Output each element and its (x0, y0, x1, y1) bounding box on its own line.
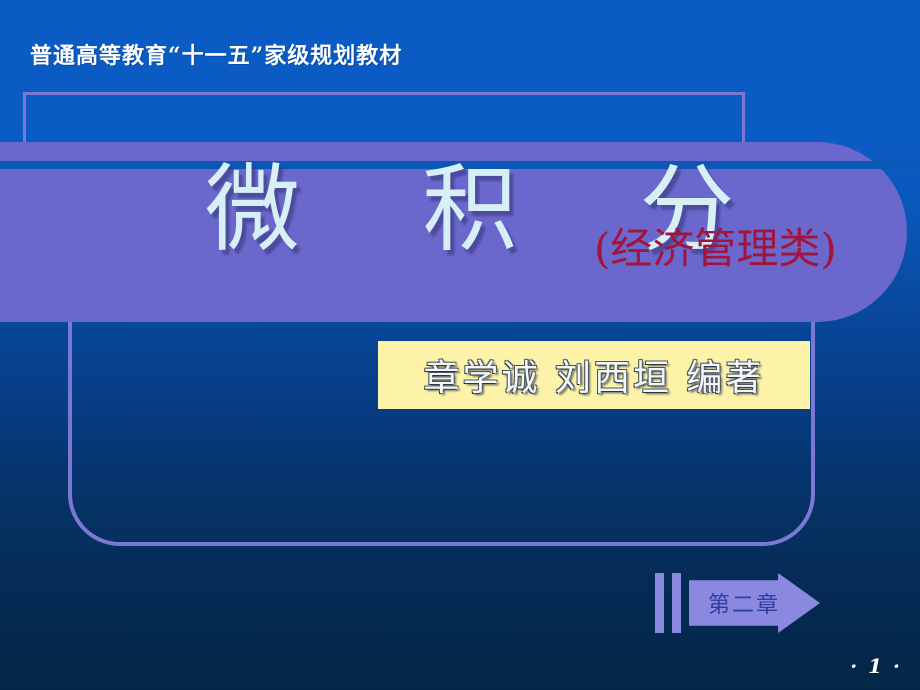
arrow-accent-bar-2 (672, 573, 681, 633)
author-box: 章学诚 刘西垣 编著 (378, 341, 810, 409)
header-series-label: 普通高等教育“十一五”家级规划教材 (30, 38, 402, 70)
chapter-label: 第二章 (689, 573, 799, 633)
chapter-arrow-badge[interactable]: 第二章 (655, 573, 820, 633)
arrow-accent-bar-1 (655, 573, 664, 633)
page-number: · 1 · (850, 654, 902, 678)
author-names: 章学诚 刘西垣 编著 (424, 349, 765, 401)
page-subtitle: (经济管理类) (594, 228, 837, 270)
presentation-slide: 普通高等教育“十一五”家级规划教材 微 积 分 (经济管理类) 章学诚 刘西垣 … (0, 0, 920, 690)
